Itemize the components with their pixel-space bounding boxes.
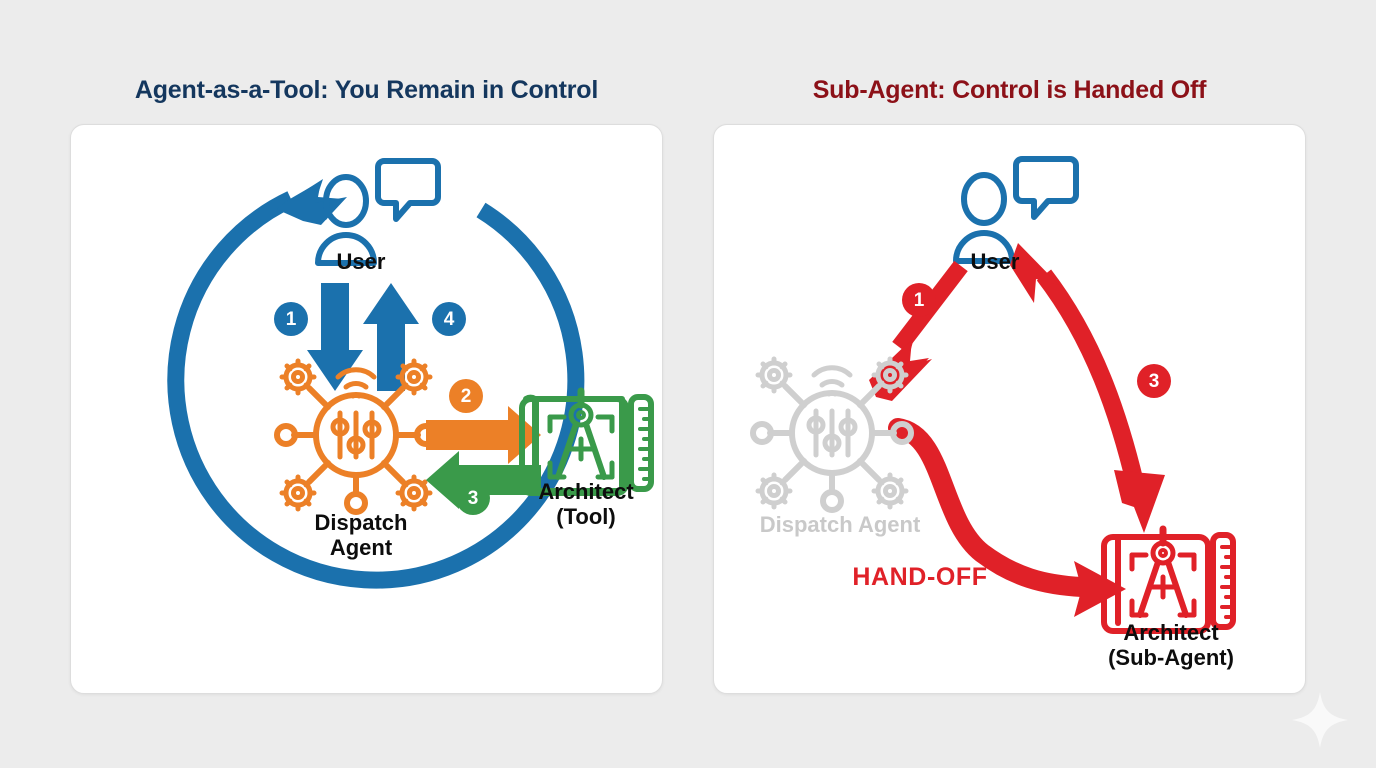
node-label-user-left: User — [306, 250, 416, 275]
step-badge-3-left: 3 — [456, 481, 490, 515]
user-speech-bubble-icon — [956, 159, 1076, 261]
node-label-user-right: User — [940, 250, 1050, 275]
handoff-label: HAND-OFF — [810, 563, 1030, 592]
diagram-canvas: Agent-as-a-Tool: You Remain in Control S… — [0, 0, 1376, 768]
architect-blueprint-compass-icon — [1104, 529, 1233, 631]
panel-title-right: Sub-Agent: Control is Handed Off — [713, 76, 1306, 105]
node-label-architect-right: Architect (Sub-Agent) — [1076, 621, 1266, 670]
panel-agent-as-a-tool: User Dispatch Agent Architect (Tool) 1 4… — [70, 124, 663, 694]
left-panel-graphics — [71, 125, 664, 695]
dispatch-agent-gears-icon — [277, 361, 435, 512]
node-label-dispatch-right: Dispatch Agent — [740, 513, 940, 538]
step-badge-4-left: 4 — [432, 302, 466, 336]
step-1-down-arrow-icon — [307, 283, 363, 391]
right-panel-graphics — [714, 125, 1307, 695]
panel-title-left: Agent-as-a-Tool: You Remain in Control — [70, 76, 663, 105]
step-badge-1-left: 1 — [274, 302, 308, 336]
step-badge-2-left: 2 — [449, 379, 483, 413]
node-label-architect-left: Architect (Tool) — [506, 480, 666, 529]
step-badge-3-right: 3 — [1137, 364, 1171, 398]
panel-sub-agent: User Dispatch Agent Architect (Sub-Agent… — [713, 124, 1306, 694]
sparkle-star-icon — [1290, 690, 1350, 750]
step-badge-1-right: 1 — [902, 283, 936, 317]
node-label-dispatch-left: Dispatch Agent — [276, 511, 446, 560]
user-speech-bubble-icon — [318, 161, 438, 263]
